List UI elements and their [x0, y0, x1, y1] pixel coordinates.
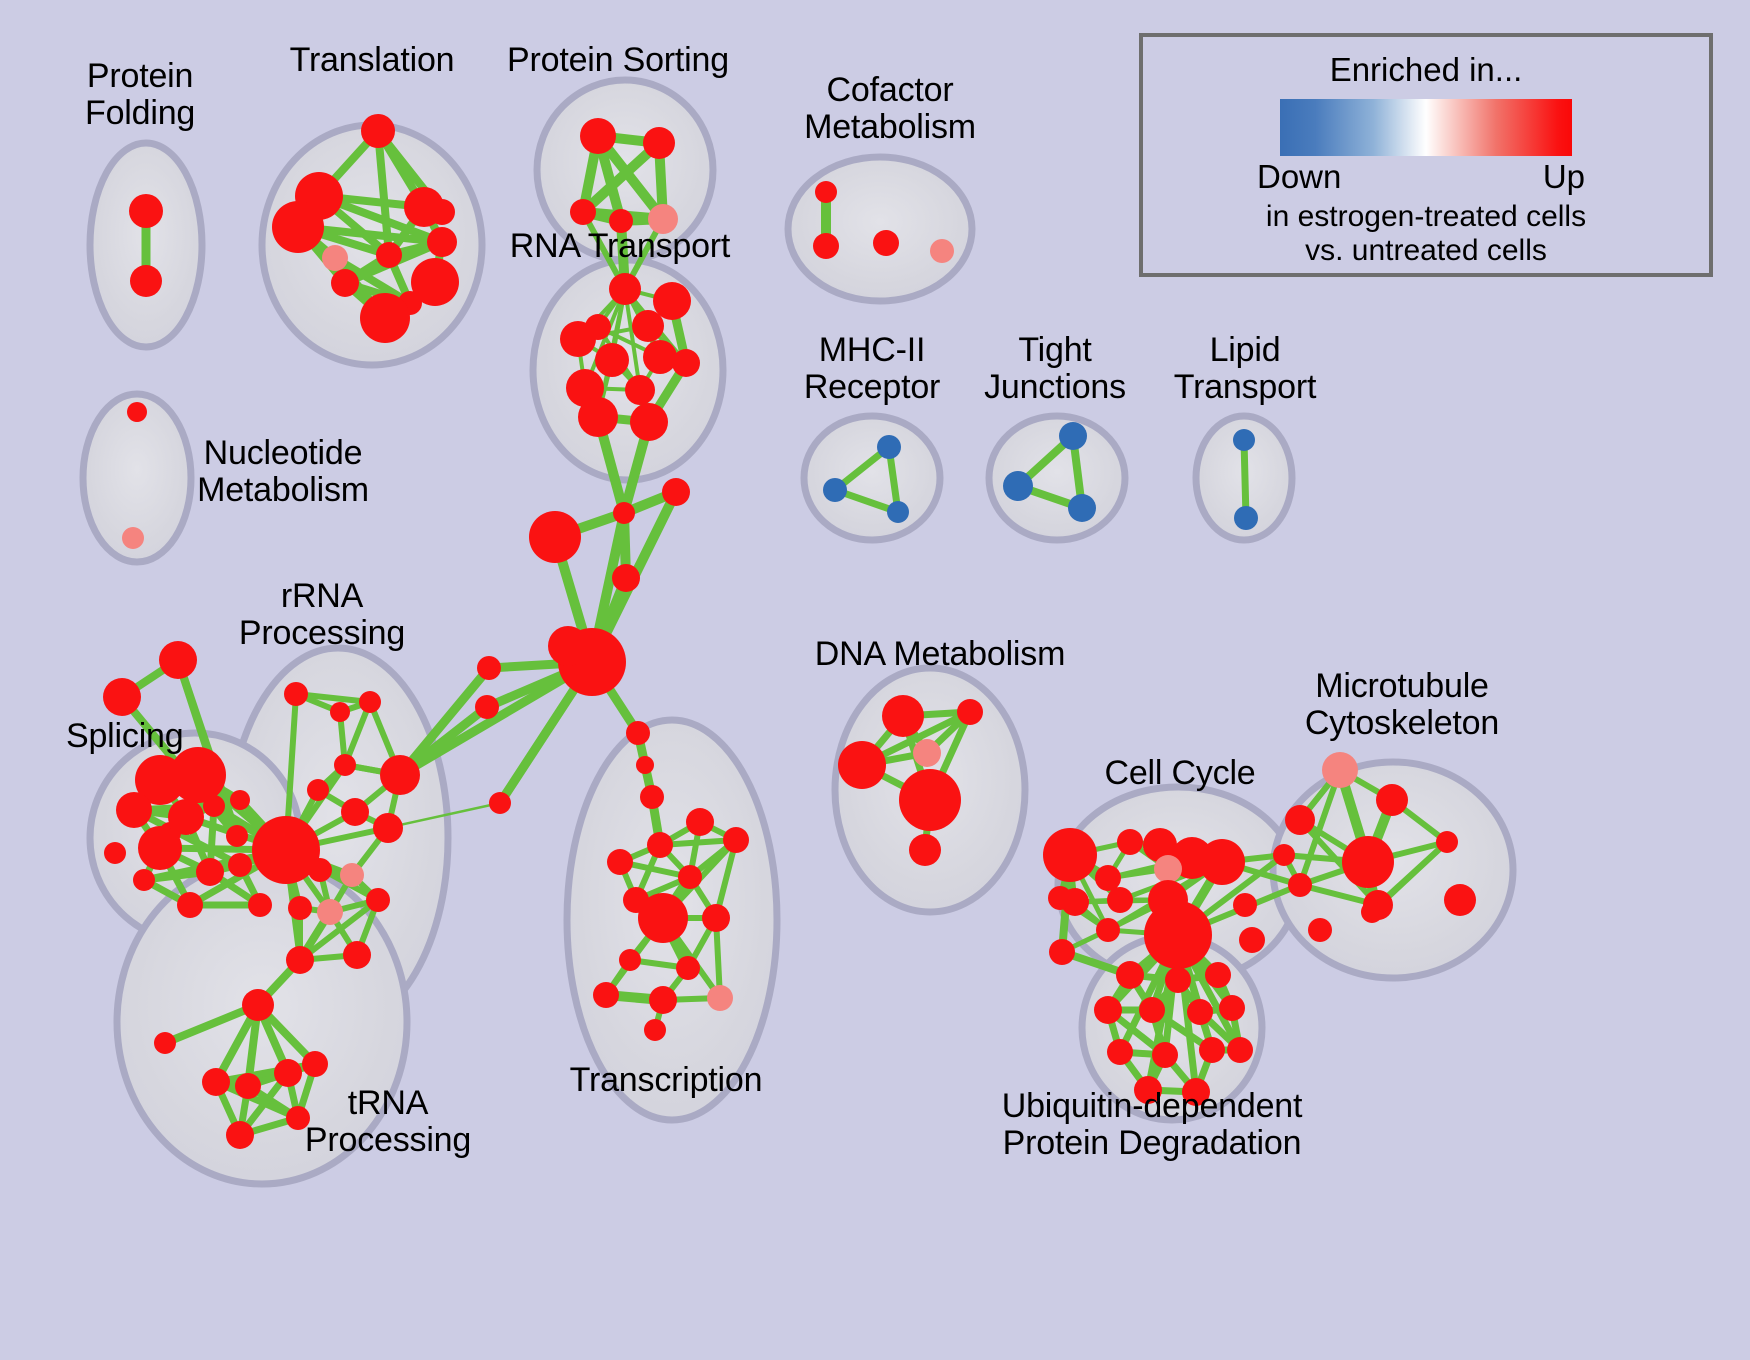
- cluster-label-ubiquitin: Ubiquitin-dependent Protein Degradation: [1002, 1088, 1303, 1161]
- legend-title: Enriched in...: [1143, 51, 1709, 89]
- cluster-label-lipid-transport: Lipid Transport: [1174, 332, 1316, 405]
- legend-color-bar: [1280, 99, 1572, 156]
- cluster-label-protein-sorting: Protein Sorting: [507, 42, 729, 79]
- cluster-label-mhc-ii-receptor: MHC-II Receptor: [804, 332, 940, 405]
- cluster-label-dna-metabolism: DNA Metabolism: [815, 636, 1065, 673]
- legend-down-label: Down: [1257, 158, 1341, 196]
- cluster-label-cell-cycle: Cell Cycle: [1104, 755, 1255, 792]
- cluster-label-rrna-processing: rRNA Processing: [239, 578, 405, 651]
- blob-cofactor: [788, 157, 972, 301]
- legend-subtitle-line1: in estrogen-treated cells: [1143, 200, 1709, 234]
- cluster-label-cofactor-metabolism: Cofactor Metabolism: [804, 72, 976, 145]
- cluster-label-translation: Translation: [290, 42, 455, 79]
- cluster-label-rna-transport: RNA Transport: [510, 228, 730, 265]
- cluster-label-splicing: Splicing: [66, 718, 183, 755]
- legend-subtitle-line2: vs. untreated cells: [1143, 234, 1709, 268]
- cluster-label-transcription: Transcription: [570, 1062, 763, 1099]
- legend-up-label: Up: [1543, 158, 1585, 196]
- cluster-label-tight-junctions: Tight Junctions: [984, 332, 1126, 405]
- network-figure: Protein Folding Translation Protein Sort…: [0, 0, 1750, 1360]
- blob-mhcii: [804, 416, 940, 540]
- cluster-label-microtubule: Microtubule Cytoskeleton: [1305, 668, 1499, 741]
- legend-box: Enriched in... Down Up in estrogen-treat…: [1139, 33, 1713, 277]
- cluster-label-protein-folding: Protein Folding: [85, 58, 195, 131]
- cluster-label-trna-processing: tRNA Processing: [305, 1085, 471, 1158]
- cluster-label-nucleotide-metabolism: Nucleotide Metabolism: [197, 435, 369, 508]
- legend-endpoints: Down Up: [1251, 158, 1601, 200]
